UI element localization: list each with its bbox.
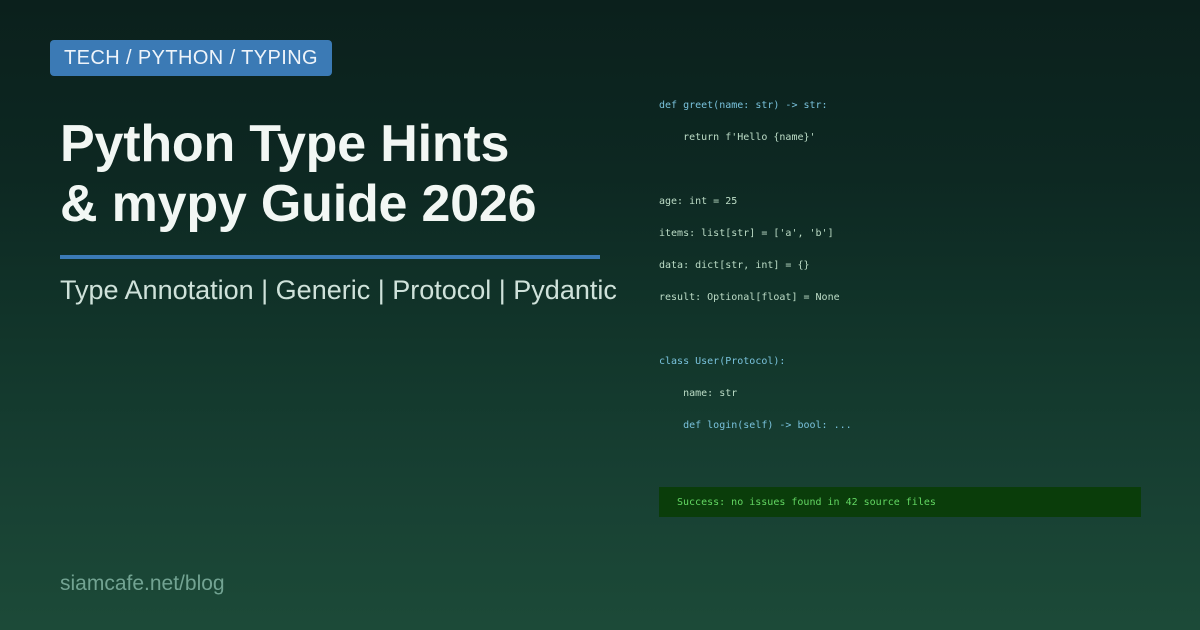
title-divider	[60, 255, 600, 259]
code-line: def login(self) -> bool: ...	[659, 420, 852, 432]
mypy-status-bar: Success: no issues found in 42 source fi…	[659, 487, 1141, 517]
code-line: data: dict[str, int] = {}	[659, 260, 810, 272]
code-line: items: list[str] = ['a', 'b']	[659, 228, 834, 240]
code-line: class User(Protocol):	[659, 356, 785, 368]
page-title: Python Type Hints & mypy Guide 2026	[60, 114, 660, 234]
code-line: age: int = 25	[659, 196, 737, 208]
left-content-column: TECH / PYTHON / TYPING Python Type Hints…	[50, 0, 650, 630]
footer-site-url: siamcafe.net/blog	[60, 572, 225, 596]
code-sample-panel: def greet(name: str) -> str: return f'He…	[659, 0, 1141, 630]
page-title-line-2: & mypy Guide 2026	[60, 174, 660, 234]
page-title-line-1: Python Type Hints	[60, 114, 660, 174]
code-line: name: str	[659, 388, 737, 400]
code-line: return f'Hello {name}'	[659, 132, 816, 144]
code-line: result: Optional[float] = None	[659, 292, 840, 304]
code-line: def greet(name: str) -> str:	[659, 100, 828, 112]
breadcrumb-badge: TECH / PYTHON / TYPING	[50, 40, 332, 76]
social-card: TECH / PYTHON / TYPING Python Type Hints…	[0, 0, 1200, 630]
subtitle-keywords: Type Annotation | Generic | Protocol | P…	[60, 273, 680, 307]
mypy-status-text: Success: no issues found in 42 source fi…	[659, 497, 936, 508]
